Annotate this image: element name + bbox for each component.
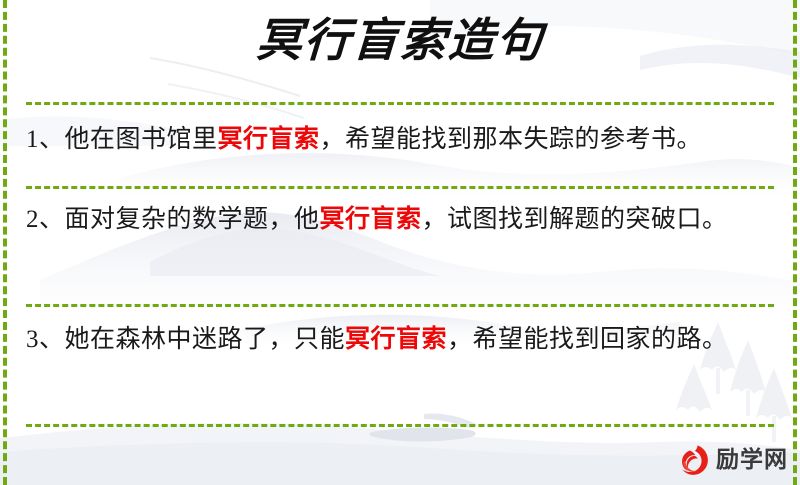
sentence-1-idiom: 冥行盲索 xyxy=(218,126,320,153)
sentence-3-after: ，希望能找到回家的路。 xyxy=(447,326,728,353)
sentence-item-1: 1、他在图书馆里冥行盲索，希望能找到那本失踪的参考书。 xyxy=(26,118,770,162)
separator-line-1 xyxy=(26,102,774,105)
sentence-3-number: 3、 xyxy=(26,326,65,353)
background-watermark xyxy=(0,0,800,485)
separator-line-4 xyxy=(26,424,774,427)
red-swirl-icon xyxy=(676,443,710,477)
sentence-1-after: ，希望能找到那本失踪的参考书。 xyxy=(320,126,703,153)
logo-text: 励学网 xyxy=(716,449,788,472)
separator-line-2 xyxy=(26,186,774,189)
frame-border-left xyxy=(3,0,7,485)
sentence-3-idiom: 冥行盲索 xyxy=(345,326,447,353)
page-root: 冥行盲索造句 1、他在图书馆里冥行盲索，希望能找到那本失踪的参考书。 2、面对复… xyxy=(0,0,800,485)
sentence-2-after: ，试图找到解题的突破口。 xyxy=(422,206,728,233)
sentence-2-number: 2、 xyxy=(26,206,65,233)
sentence-2-before: 面对复杂的数学题，他 xyxy=(65,206,320,233)
sentence-3-before: 她在森林中迷路了，只能 xyxy=(65,326,346,353)
sentence-1-number: 1、 xyxy=(26,126,65,153)
sentence-1-before: 他在图书馆里 xyxy=(65,126,218,153)
sentence-item-3: 3、她在森林中迷路了，只能冥行盲索，希望能找到回家的路。 xyxy=(26,318,770,362)
sentence-item-2: 2、面对复杂的数学题，他冥行盲索，试图找到解题的突破口。 xyxy=(26,198,770,242)
frame-border-right xyxy=(793,0,797,485)
separator-line-3 xyxy=(26,304,774,307)
site-logo[interactable]: 励学网 xyxy=(676,443,788,477)
page-title: 冥行盲索造句 xyxy=(0,12,800,70)
sentence-2-idiom: 冥行盲索 xyxy=(320,206,422,233)
